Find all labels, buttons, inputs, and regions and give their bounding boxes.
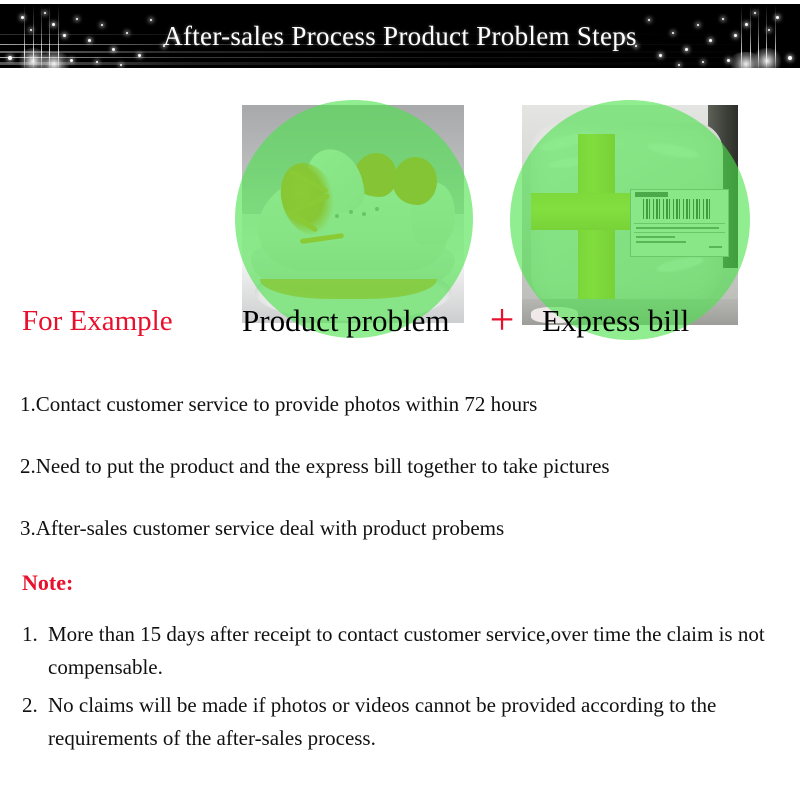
product-problem-caption: Product problem (242, 303, 450, 339)
step-item: 2.Need to put the product and the expres… (20, 454, 780, 479)
note-item-number: 1. (22, 618, 48, 683)
express-bill-caption: Express bill (542, 303, 689, 339)
sneaker-photo (242, 105, 464, 323)
barcode-icon (643, 199, 713, 219)
step-item: 3.After-sales customer service deal with… (20, 516, 780, 541)
page-title: After-sales Process Product Problem Step… (0, 4, 800, 68)
express-bill-photo-block: Express bill (522, 95, 738, 335)
note-item-text: More than 15 days after receipt to conta… (48, 618, 792, 683)
note-item: 2. No claims will be made if photos or v… (22, 689, 792, 754)
note-item-number: 2. (22, 689, 48, 754)
product-problem-photo-block: Product problem (242, 95, 464, 335)
example-row: For Example Product problem + (0, 95, 800, 350)
note-section: Note: 1. More than 15 days after receipt… (22, 570, 792, 760)
note-item: 1. More than 15 days after receipt to co… (22, 618, 792, 683)
header-banner: After-sales Process Product Problem Step… (0, 4, 800, 68)
steps-list: 1.Contact customer service to provide ph… (20, 392, 780, 578)
step-item: 1.Contact customer service to provide ph… (20, 392, 780, 417)
note-item-text: No claims will be made if photos or vide… (48, 689, 792, 754)
note-heading: Note: (22, 570, 792, 596)
plus-icon: + (484, 300, 520, 340)
express-package-photo (522, 105, 738, 325)
shipping-label (630, 189, 729, 257)
for-example-label: For Example (22, 305, 173, 338)
